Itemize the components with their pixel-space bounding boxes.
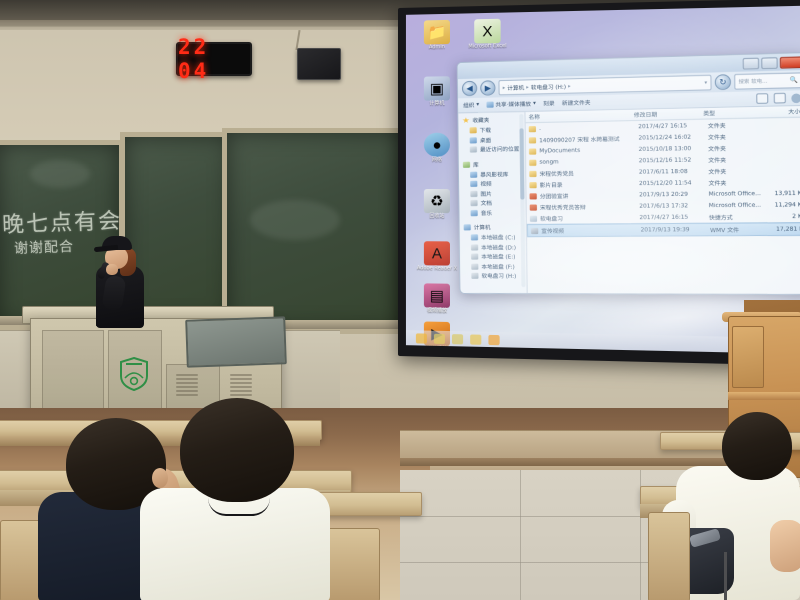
desktop-icon-label: 视频播放 — [414, 308, 460, 315]
file-type: 文件夹 — [705, 166, 760, 175]
nav-item-drive-e-icon[interactable]: 本地磁盘 (E:) — [464, 252, 526, 260]
folder-icon[interactable]: 📁 — [424, 20, 450, 45]
folder-icon — [529, 148, 536, 154]
nav-item-label: 音乐 — [481, 208, 492, 216]
file-name: 宋程优秀党员 — [536, 168, 635, 178]
desktop-icon-recycle-bin-icon[interactable]: ♻回收站 — [414, 189, 460, 220]
file-size — [761, 181, 800, 182]
powerpoint-icon — [530, 193, 537, 199]
forward-icon[interactable]: ▶ — [480, 80, 495, 96]
shortcut-icon — [530, 215, 537, 221]
cabinet-shelf — [728, 392, 800, 400]
nav-group-library-icon[interactable]: 库 — [463, 159, 525, 168]
explorer-icon[interactable] — [434, 333, 445, 343]
nav-item-label: 本地磁盘 (F:) — [481, 262, 514, 270]
file-type: 文件夹 — [705, 132, 760, 141]
folder-icon — [529, 170, 536, 176]
desktop-icon-label: 计算机 — [414, 101, 460, 107]
file-date: 2015/12/24 16:02 — [635, 134, 704, 141]
address-dropdown-icon[interactable]: ▾ — [704, 79, 707, 85]
presenter — [92, 236, 154, 328]
nav-item-videos-icon[interactable]: 视频 — [463, 179, 525, 188]
file-size — [760, 147, 800, 148]
file-size — [760, 123, 800, 124]
music-icon — [471, 210, 478, 216]
file-type: 文件夹 — [705, 143, 760, 152]
nav-item-drive-c-icon[interactable]: 本地磁盘 (C:) — [464, 233, 526, 241]
file-name: 1409090207 宋程 水跨墓测试 — [536, 134, 635, 144]
chalk-smudge — [30, 160, 90, 188]
chair-leg — [724, 552, 727, 600]
chevron-down-icon: ▾ — [476, 102, 479, 108]
breadcrumb-drive[interactable]: 软电盘习 (H:) — [531, 82, 566, 91]
start-orb-icon[interactable] — [416, 333, 427, 343]
share-with-button[interactable]: 共享·媒体播放 ▾ — [486, 100, 536, 109]
file-row[interactable]: 宣传视频2017/9/13 19:39WMV 文件17,281 KB — [527, 222, 800, 237]
file-type: 快捷方式 — [706, 212, 761, 221]
file-type: 文件夹 — [705, 155, 760, 164]
search-input[interactable]: 搜索 软电... 🔍 — [734, 72, 800, 89]
wmv-icon — [531, 227, 538, 233]
wall-speaker — [297, 48, 341, 80]
file-date: 2015/12/20 11:54 — [636, 180, 705, 187]
chevron-down-icon: ▾ — [533, 101, 536, 107]
help-icon[interactable] — [791, 93, 800, 103]
drive-f-icon — [471, 263, 478, 269]
toolbar-right-group — [756, 92, 800, 104]
nav-item-label: 文档 — [481, 199, 492, 207]
nav-item-drive-d-icon[interactable]: 本地磁盘 (D:) — [464, 243, 526, 251]
minimize-button[interactable] — [743, 57, 760, 69]
nav-group-list: 收藏夹下载桌面最近访问的位置库暴风影视库视频图片文档音乐计算机本地磁盘 (C:)… — [462, 115, 526, 286]
nav-item-video-library-icon[interactable]: 暴风影视库 — [463, 170, 525, 179]
clock-digits: 22 04 — [178, 35, 250, 83]
pictures-icon — [470, 190, 477, 196]
file-size — [760, 135, 800, 136]
desktop-icon-label: Microsoft Excel — [464, 44, 511, 51]
desktop-icon-label: 回收站 — [414, 214, 460, 220]
tile-line — [520, 470, 521, 600]
led-wall-clock: 22 04 — [176, 42, 252, 76]
nav-group-computer-icon[interactable]: 计算机 — [464, 223, 526, 231]
recent-places-icon — [470, 146, 477, 152]
nav-item-drive-f-icon[interactable]: 本地磁盘 (F:) — [464, 262, 526, 270]
file-name: 影片目录 — [537, 179, 636, 188]
nav-scrollbar-thumb[interactable] — [520, 128, 525, 199]
desktop-icon-label: Admin — [414, 45, 460, 52]
chalk-text-line-2: 谢谢配合 — [14, 236, 75, 258]
file-type: 文件夹 — [704, 120, 759, 129]
recycle-bin-icon[interactable]: ♻ — [424, 189, 450, 213]
column-header-date[interactable]: 修改日期 — [631, 109, 700, 119]
file-date: 2015/12/16 11:52 — [636, 157, 705, 164]
desktop-icon-label: 媒体播放 — [414, 346, 460, 353]
file-name: MyDocuments — [536, 146, 635, 154]
nav-item-label: 下载 — [480, 126, 491, 134]
desktop-icon-film-icon[interactable]: ▤视频播放 — [414, 283, 460, 315]
nav-item-music-icon[interactable]: 音乐 — [463, 208, 525, 217]
presenter-hand — [106, 264, 118, 275]
nav-item-pictures-icon[interactable]: 图片 — [463, 189, 525, 198]
desktop-icon-computer-icon[interactable]: ▣计算机 — [414, 76, 460, 107]
maximize-button[interactable] — [761, 57, 778, 69]
step-riser — [400, 458, 730, 466]
file-size — [760, 158, 800, 159]
breadcrumb-sep: ▸ — [568, 83, 571, 89]
desktop-icon-label: Adobe Reader X — [414, 266, 460, 272]
folder-icon — [529, 159, 536, 165]
file-name: 软电盘习 — [537, 213, 636, 222]
refresh-icon[interactable]: ↻ — [715, 74, 731, 90]
computer-icon[interactable]: ▣ — [424, 76, 450, 100]
breadcrumb-computer[interactable]: 计算机 — [507, 83, 524, 92]
file-size — [760, 170, 800, 171]
column-header-name[interactable]: 名称 — [525, 111, 630, 121]
file-type: WMV 文件 — [707, 225, 762, 234]
desktop-icon-folder-icon[interactable]: 📁Admin — [414, 20, 460, 52]
nav-group-label: 计算机 — [474, 223, 491, 231]
nav-item-label: 桌面 — [480, 136, 491, 144]
file-size: 11,294 KB — [761, 202, 800, 209]
student-left-ear — [152, 468, 168, 488]
preview-pane-icon[interactable] — [774, 93, 786, 104]
nav-item-drive-h-icon[interactable]: 软电盘习 (H:) — [464, 272, 526, 280]
nav-item-label: 本地磁盘 (D:) — [481, 243, 516, 251]
nav-item-downloads-icon[interactable]: 下载 — [462, 125, 524, 134]
drive-e-icon — [471, 254, 478, 260]
desktop-icon-label: 网络 — [414, 158, 460, 164]
nav-spacer — [464, 281, 526, 286]
student-center-head — [180, 398, 294, 502]
column-header-type[interactable]: 类型 — [700, 108, 755, 118]
file-size: 13,911 KB — [761, 190, 800, 197]
folder-icon[interactable] — [470, 334, 481, 344]
file-type: 文件夹 — [705, 178, 760, 187]
file-type: Microsoft Office... — [705, 202, 760, 209]
file-date: 2017/4/27 16:15 — [636, 214, 705, 221]
file-name: 宣传视频 — [538, 226, 637, 235]
file-date: 2017/6/11 18:08 — [636, 168, 705, 175]
nav-item-label: 图片 — [480, 189, 491, 197]
folder-icon — [529, 126, 536, 132]
podium-vent — [230, 374, 252, 396]
search-placeholder: 搜索 软电... — [739, 77, 768, 85]
powerpoint-icon — [530, 204, 537, 210]
nav-group-label: 库 — [473, 160, 479, 168]
university-crest-icon — [118, 356, 150, 392]
back-icon[interactable]: ◀ — [462, 81, 477, 97]
file-date: 2015/10/18 13:00 — [635, 145, 704, 152]
file-type: Microsoft Office... — [705, 190, 760, 197]
network-icon[interactable]: ● — [424, 133, 450, 157]
file-size: 2 KB — [761, 213, 800, 220]
file-name: 分团验宣讲 — [537, 191, 636, 200]
star-icon — [462, 117, 469, 123]
adobe-reader-icon[interactable]: A — [424, 241, 450, 265]
media-icon[interactable] — [488, 334, 499, 344]
burn-button[interactable]: 刻录 — [543, 99, 554, 107]
search-icon[interactable]: 🔍 — [789, 77, 797, 85]
browser-icon[interactable] — [452, 334, 463, 344]
file-row-list: .2017/4/27 16:15文件夹1409090207 宋程 水跨墓测试20… — [526, 118, 800, 238]
podium-monitor — [185, 316, 287, 367]
breadcrumb-sep: ▸ — [503, 85, 506, 91]
film-icon[interactable]: ▤ — [424, 283, 450, 308]
file-date: 2017/9/13 20:29 — [636, 191, 705, 198]
ceiling-beam — [0, 20, 400, 30]
drive-c-icon — [471, 234, 478, 240]
nav-item-recent-places-icon[interactable]: 最近访问的位置 — [463, 145, 525, 154]
nav-item-label: 本地磁盘 (C:) — [481, 233, 516, 241]
drive-h-icon — [471, 273, 478, 279]
nav-item-documents-icon[interactable]: 文档 — [463, 199, 525, 208]
nav-item-label: 视频 — [480, 180, 491, 188]
computer-icon — [464, 224, 471, 230]
nav-group-label: 收藏夹 — [472, 116, 489, 124]
file-date: 2017/9/13 19:39 — [637, 226, 707, 233]
nav-item-label: 本地磁盘 (E:) — [481, 252, 515, 260]
organize-button[interactable]: 组织 ▾ — [463, 101, 479, 109]
desktop-icon-excel-icon[interactable]: XMicrosoft Excel — [464, 19, 511, 51]
close-button[interactable] — [780, 56, 800, 68]
videos-icon — [470, 181, 477, 187]
new-folder-button[interactable]: 新建文件夹 — [562, 98, 591, 107]
cabinet-door[interactable] — [732, 326, 764, 388]
nav-item-label: 暴风影视库 — [480, 170, 508, 178]
file-size: 17,281 KB — [762, 226, 800, 233]
video-library-icon — [470, 171, 477, 177]
file-date: 2017/4/27 16:15 — [635, 122, 704, 130]
nav-item-label: 最近访问的位置 — [480, 145, 519, 154]
share-icon — [486, 102, 493, 108]
drive-d-icon — [471, 244, 478, 250]
downloads-icon — [470, 127, 477, 133]
breadcrumb-sep: ▸ — [526, 84, 529, 90]
chair-right — [648, 512, 690, 600]
file-name: songm — [536, 158, 635, 166]
student-far-right-arm — [770, 520, 800, 572]
nav-group-star-icon[interactable]: 收藏夹 — [462, 115, 524, 124]
nav-item-label: 软电盘习 (H:) — [481, 272, 516, 280]
podium-vent — [176, 374, 198, 396]
student-right-head — [722, 412, 792, 480]
folder-icon — [529, 182, 536, 188]
documents-icon — [470, 200, 477, 206]
view-layout-icon[interactable] — [756, 93, 768, 104]
explorer-body: 收藏夹下载桌面最近访问的位置库暴风影视库视频图片文档音乐计算机本地磁盘 (C:)… — [458, 106, 800, 295]
desktop-icon — [470, 137, 477, 143]
windows-explorer-window[interactable]: ◀ ▶ ▸ 计算机 ▸ 软电盘习 (H:) ▸ ▾ ↻ 搜索 软电... 🔍 — [457, 52, 800, 295]
navigation-pane[interactable]: 收藏夹下载桌面最近访问的位置库暴风影视库视频图片文档音乐计算机本地磁盘 (C:)… — [458, 112, 527, 295]
column-header-size[interactable]: 大小 — [755, 107, 800, 116]
desktop-icon-column: 📁AdminXMicrosoft Excel▣计算机●网络♻回收站AAdobe … — [406, 6, 800, 15]
desktop-icon-adobe-reader-icon[interactable]: AAdobe Reader X — [414, 241, 460, 272]
desktop-icon-network-icon[interactable]: ●网络 — [414, 133, 460, 164]
projection-surface: 📁AdminXMicrosoft Excel▣计算机●网络♻回收站AAdobe … — [406, 6, 800, 355]
classroom-photo: 晚七点有会 谢谢配合 22 04 📁AdminXMicrosoft Excel▣… — [0, 0, 800, 600]
chalk-smudge — [250, 200, 340, 240]
folder-icon — [529, 137, 536, 143]
file-name: 宋程优秀党员答辩 — [537, 202, 636, 211]
chalk-text-line-1: 晚七点有会 — [1, 203, 122, 239]
nav-item-desktop-icon[interactable]: 桌面 — [463, 135, 525, 144]
file-list-pane[interactable]: 名称 修改日期 类型 大小 .2017/4/27 16:15文件夹1409090… — [525, 106, 800, 295]
file-date: 2017/6/13 17:32 — [636, 202, 705, 209]
file-name: . — [536, 124, 635, 132]
library-icon — [463, 161, 470, 167]
excel-icon[interactable]: X — [474, 19, 500, 44]
